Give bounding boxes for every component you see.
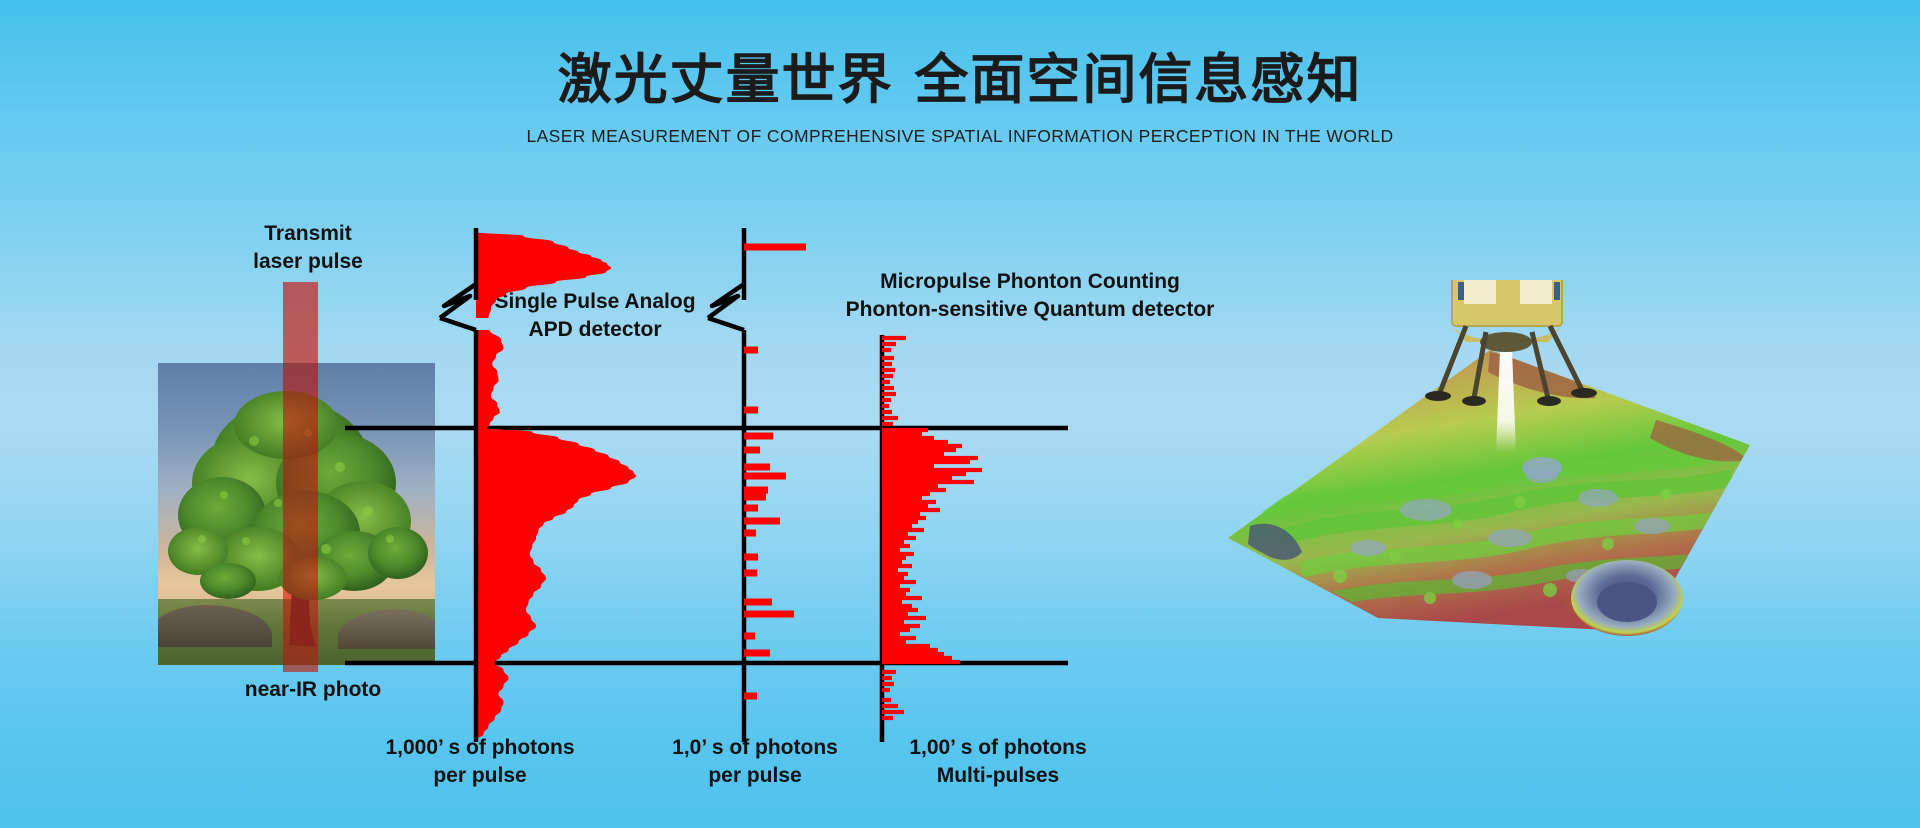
photon-bar	[882, 432, 922, 436]
photon-bar	[882, 698, 891, 702]
photon-bar	[882, 682, 894, 686]
photon-bar	[744, 554, 758, 561]
photon-bar	[744, 473, 786, 480]
photon-bar	[744, 611, 794, 618]
photon-bar	[882, 456, 978, 460]
photon-bar	[882, 576, 904, 580]
photon-bar	[882, 504, 928, 508]
photon-bar	[882, 440, 948, 444]
photon-bar	[882, 600, 902, 604]
photon-bar	[882, 374, 893, 378]
photon-bar	[882, 564, 912, 568]
photon-bar	[882, 480, 974, 484]
small-crater	[1522, 457, 1562, 479]
photon-bar	[882, 520, 918, 524]
photon-bar	[882, 468, 982, 472]
photon-bar	[882, 636, 916, 640]
photon-bar	[882, 588, 910, 592]
photon-bar	[744, 494, 766, 501]
dem-surface	[1228, 350, 1750, 636]
photon-bar	[882, 704, 898, 708]
photon-bar	[882, 632, 900, 636]
photon-bar	[882, 624, 920, 628]
photon-bar	[882, 644, 930, 648]
photon-bar	[744, 244, 806, 251]
plot1-waveform-segment-1	[476, 330, 636, 740]
lidar-terrain-scene	[1190, 280, 1750, 720]
photon-bar	[882, 548, 900, 552]
photon-bar	[882, 592, 906, 596]
photon-bar	[744, 599, 772, 606]
photon-bar	[882, 512, 920, 516]
photon-bar	[882, 356, 894, 360]
photon-bar	[744, 407, 758, 414]
photon-bar	[882, 386, 894, 390]
photon-bar	[882, 640, 906, 644]
photon-bar	[882, 342, 896, 346]
photon-bar	[882, 652, 944, 656]
photon-bar	[882, 604, 912, 608]
photon-bar	[882, 560, 902, 564]
photon-bar	[882, 444, 962, 448]
photon-bar	[882, 670, 896, 674]
photon-bar	[882, 422, 893, 426]
photon-bar	[882, 568, 898, 572]
photon-bar	[882, 620, 904, 624]
photon-bar	[882, 716, 893, 720]
photon-bar	[882, 596, 922, 600]
photon-bar	[882, 536, 916, 540]
photon-bar	[882, 572, 908, 576]
photon-bar	[882, 448, 956, 452]
photon-bar	[882, 428, 928, 432]
photon-bar	[882, 508, 940, 512]
photon-bar	[882, 528, 924, 532]
photon-bar	[744, 433, 773, 440]
photon-bar	[882, 464, 934, 468]
photon-bar	[882, 660, 960, 664]
photon-bar	[882, 416, 898, 420]
plot2-axis-break-icon-tail	[708, 318, 744, 330]
photon-bar	[744, 650, 770, 657]
photon-bar	[882, 492, 930, 496]
photon-bar	[882, 688, 890, 692]
photon-bar	[882, 556, 906, 560]
photon-bar	[882, 524, 912, 528]
photon-bar	[882, 336, 906, 340]
photon-bar	[882, 362, 892, 366]
photon-bar	[882, 532, 908, 536]
photon-bar	[882, 628, 910, 632]
photon-bar	[882, 580, 916, 584]
photon-bar	[882, 656, 952, 660]
photon-bar	[882, 584, 900, 588]
photon-bar	[882, 476, 952, 480]
photon-bar	[882, 368, 895, 372]
photon-bar	[882, 404, 889, 408]
photon-bar	[744, 693, 757, 700]
photon-bar	[882, 392, 896, 396]
photon-bar	[882, 496, 922, 500]
plot1-axis-break-icon	[440, 284, 476, 318]
plot-micropulse-photon-counting	[882, 335, 982, 742]
photon-bar	[882, 460, 970, 464]
photon-bar	[882, 612, 908, 616]
photon-bar	[882, 540, 904, 544]
banner-canvas: 激光丈量世界 全面空间信息感知 LASER MEASUREMENT OF COM…	[0, 0, 1920, 828]
photon-bar	[744, 518, 780, 525]
photon-bar	[744, 347, 758, 354]
photon-bar	[882, 616, 926, 620]
photon-bar	[744, 530, 756, 537]
photon-bar	[744, 570, 757, 577]
photon-bar	[882, 552, 914, 556]
photon-bar	[882, 452, 944, 456]
plot2-bar-group	[744, 244, 806, 700]
plot1-axis-break-icon-tail	[440, 318, 476, 330]
photon-bar	[882, 710, 904, 714]
photon-bar	[744, 464, 770, 471]
photon-bar	[882, 484, 938, 488]
photon-bar	[744, 505, 758, 512]
photon-bar	[744, 487, 768, 494]
crater	[1571, 560, 1683, 636]
photon-bar	[882, 648, 938, 652]
plot2-axis-break-icon	[708, 284, 744, 318]
photon-bar	[882, 500, 936, 504]
photon-bar	[882, 544, 910, 548]
photon-bar	[882, 516, 926, 520]
photon-bar	[882, 608, 918, 612]
photon-bar	[882, 348, 891, 352]
plot1-waveform-segment-0	[476, 232, 611, 318]
photon-bar	[882, 436, 934, 440]
photon-bar	[882, 472, 966, 476]
photon-bar	[882, 398, 891, 402]
photon-bar	[882, 488, 946, 492]
photon-bar	[882, 410, 892, 414]
photon-bar	[882, 380, 890, 384]
photon-bar	[744, 633, 755, 640]
photon-bar	[744, 447, 760, 454]
photon-bar	[882, 676, 892, 680]
